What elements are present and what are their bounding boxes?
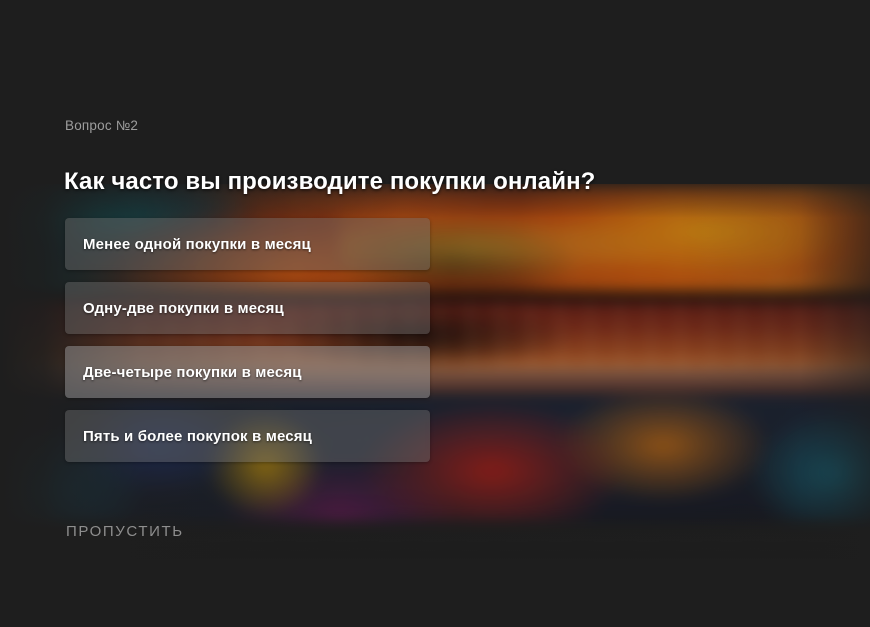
skip-button[interactable]: Пропустить (66, 523, 184, 540)
answer-option-4[interactable]: Пять и более покупок в месяц (65, 410, 430, 462)
question-title: Как часто вы производите покупки онлайн? (64, 168, 595, 196)
answer-option-label: Две-четыре покупки в месяц (83, 364, 302, 381)
answer-option-1[interactable]: Менее одной покупки в месяц (65, 218, 430, 270)
question-number-label: Вопрос №2 (65, 118, 138, 133)
answer-option-2[interactable]: Одну-две покупки в месяц (65, 282, 430, 334)
answer-option-label: Пять и более покупок в месяц (83, 428, 312, 445)
quiz-screen: Вопрос №2 Как часто вы производите покуп… (0, 0, 870, 627)
quiz-content: Вопрос №2 Как часто вы производите покуп… (0, 0, 870, 627)
answer-options-list: Менее одной покупки в месяц Одну-две пок… (65, 218, 430, 474)
answer-option-label: Одну-две покупки в месяц (83, 300, 284, 317)
answer-option-3[interactable]: Две-четыре покупки в месяц (65, 346, 430, 398)
answer-option-label: Менее одной покупки в месяц (83, 236, 311, 253)
